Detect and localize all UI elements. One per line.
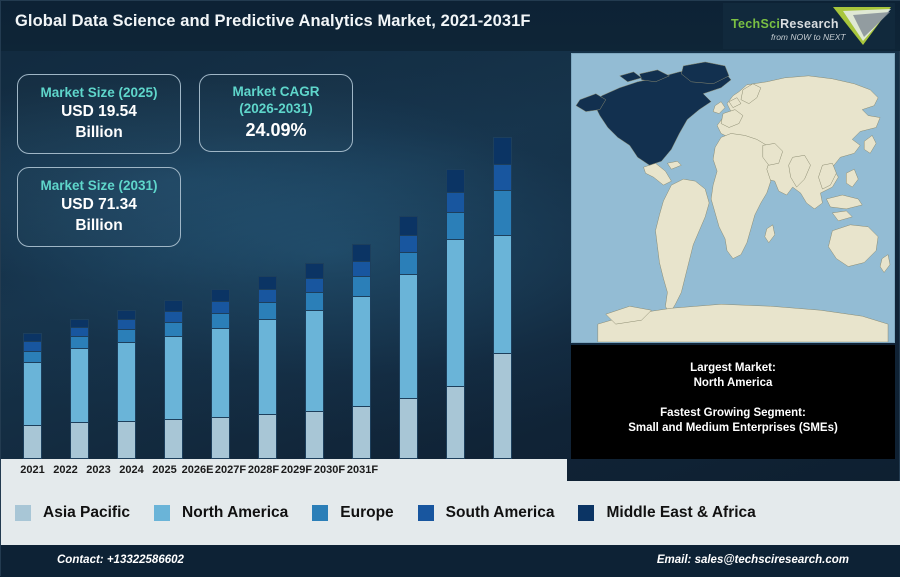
- stacked-bar-2030F[interactable]: [446, 169, 465, 459]
- bar-segment[interactable]: [258, 414, 277, 459]
- bar-segment[interactable]: [23, 351, 42, 362]
- bar-segment[interactable]: [399, 235, 418, 252]
- bar-segment[interactable]: [352, 296, 371, 406]
- legend-label: Middle East & Africa: [606, 504, 755, 522]
- bar-segment[interactable]: [117, 310, 136, 319]
- bar-segment[interactable]: [211, 328, 230, 417]
- legend-item-asia-pacific[interactable]: Asia Pacific: [15, 504, 130, 522]
- bar-slot: [164, 51, 211, 459]
- bar-segment[interactable]: [446, 169, 465, 192]
- legend-swatch-icon: [15, 505, 31, 521]
- fastest-segment-label: Fastest Growing Segment:: [571, 406, 895, 421]
- spacer: [571, 391, 895, 406]
- x-axis-label: 2031F: [339, 459, 386, 481]
- world-map-panel: [571, 53, 895, 343]
- stacked-bar-2026E[interactable]: [258, 276, 277, 459]
- bar-segment[interactable]: [70, 422, 89, 459]
- page-title: Global Data Science and Predictive Analy…: [15, 12, 531, 31]
- bar-segment[interactable]: [258, 276, 277, 289]
- bar-segment[interactable]: [211, 417, 230, 459]
- bar-slot: [70, 51, 117, 459]
- bar-slot: [23, 51, 70, 459]
- legend-label: Europe: [340, 504, 393, 522]
- world-map-icon: [572, 54, 894, 342]
- logo-tagline: from NOW to NEXT: [771, 32, 846, 42]
- bar-segment[interactable]: [305, 292, 324, 310]
- legend-swatch-icon: [312, 505, 328, 521]
- bar-segment[interactable]: [493, 235, 512, 353]
- bar-segment[interactable]: [258, 302, 277, 319]
- bar-segment[interactable]: [399, 398, 418, 459]
- largest-market-value: North America: [571, 376, 895, 391]
- legend-item-south-america[interactable]: South America: [418, 504, 555, 522]
- bar-segment[interactable]: [399, 216, 418, 235]
- bar-segment[interactable]: [352, 406, 371, 459]
- key-insights-box: Largest Market: North America Fastest Gr…: [571, 345, 895, 459]
- legend-item-middle-east-africa[interactable]: Middle East & Africa: [578, 504, 755, 522]
- bar-segment[interactable]: [164, 311, 183, 322]
- bar-segment[interactable]: [258, 319, 277, 414]
- header-bar: Global Data Science and Predictive Analy…: [1, 1, 900, 51]
- legend-swatch-icon: [154, 505, 170, 521]
- bar-segment[interactable]: [70, 336, 89, 348]
- largest-market-label: Largest Market:: [571, 361, 895, 376]
- bar-segment[interactable]: [399, 252, 418, 274]
- stacked-bar-chart: [1, 51, 567, 459]
- infographic-canvas: Global Data Science and Predictive Analy…: [0, 0, 900, 576]
- stacked-bar-2027F[interactable]: [305, 263, 324, 459]
- stacked-bar-2031F[interactable]: [493, 137, 512, 459]
- bar-segment[interactable]: [446, 212, 465, 239]
- bar-segment[interactable]: [23, 362, 42, 425]
- legend-label: Asia Pacific: [43, 504, 130, 522]
- bar-segment[interactable]: [23, 333, 42, 341]
- logo-wordmark: TechSciResearch: [731, 17, 839, 31]
- bar-segment[interactable]: [70, 327, 89, 336]
- bar-segment[interactable]: [352, 261, 371, 276]
- logo-name-part1: TechSci: [731, 17, 780, 31]
- bar-segment[interactable]: [446, 192, 465, 212]
- bar-slot: [493, 51, 540, 459]
- legend-label: North America: [182, 504, 288, 522]
- bar-segment[interactable]: [117, 329, 136, 342]
- bar-segment[interactable]: [446, 386, 465, 459]
- techsci-research-logo: TechSciResearch from NOW to NEXT: [723, 3, 895, 49]
- bar-segment[interactable]: [164, 419, 183, 459]
- legend-swatch-icon: [418, 505, 434, 521]
- stacked-bar-2028F[interactable]: [352, 244, 371, 459]
- bar-segment[interactable]: [70, 348, 89, 422]
- bar-segment[interactable]: [211, 313, 230, 328]
- bar-segment[interactable]: [211, 301, 230, 313]
- chart-bars-container: [1, 51, 567, 459]
- stacked-bar-2023[interactable]: [117, 310, 136, 459]
- bar-slot: [446, 51, 493, 459]
- bar-slot: [399, 51, 446, 459]
- bar-segment[interactable]: [70, 319, 89, 327]
- chart-legend: Asia PacificNorth AmericaEuropeSouth Ame…: [1, 481, 900, 545]
- bar-segment[interactable]: [305, 310, 324, 411]
- footer-bar: Contact: +13322586602 Email: sales@techs…: [1, 545, 900, 577]
- footer-email: Email: sales@techsciresearch.com: [657, 554, 849, 566]
- bar-slot: [305, 51, 352, 459]
- bar-segment[interactable]: [117, 319, 136, 329]
- logo-name-part2: Research: [780, 17, 839, 31]
- bar-slot: [258, 51, 305, 459]
- bar-segment[interactable]: [117, 342, 136, 421]
- bar-slot: [352, 51, 399, 459]
- bar-segment[interactable]: [23, 341, 42, 351]
- bar-segment[interactable]: [493, 137, 512, 164]
- bar-segment[interactable]: [352, 244, 371, 261]
- stacked-bar-2022[interactable]: [70, 319, 89, 459]
- bar-segment[interactable]: [164, 322, 183, 336]
- legend-label: South America: [446, 504, 555, 522]
- bar-segment[interactable]: [305, 263, 324, 278]
- bar-segment[interactable]: [211, 289, 230, 301]
- bar-segment[interactable]: [164, 336, 183, 419]
- bar-segment[interactable]: [352, 276, 371, 296]
- bar-segment[interactable]: [305, 411, 324, 459]
- footer-contact: Contact: +13322586602: [57, 554, 184, 566]
- legend-item-europe[interactable]: Europe: [312, 504, 393, 522]
- bar-slot: [117, 51, 164, 459]
- bar-segment[interactable]: [117, 421, 136, 459]
- stacked-bar-2029F[interactable]: [399, 216, 418, 459]
- bar-segment[interactable]: [164, 300, 183, 311]
- bar-segment[interactable]: [305, 278, 324, 292]
- x-axis-labels: 202120222023202420252026E2027F2028F2029F…: [1, 459, 567, 481]
- stacked-bar-2024[interactable]: [164, 300, 183, 459]
- legend-item-north-america[interactable]: North America: [154, 504, 288, 522]
- bar-segment[interactable]: [493, 164, 512, 190]
- fastest-segment-value: Small and Medium Enterprises (SMEs): [571, 421, 895, 436]
- bar-segment[interactable]: [23, 425, 42, 459]
- bar-segment[interactable]: [493, 353, 512, 459]
- stacked-bar-2025[interactable]: [211, 289, 230, 459]
- bar-slot: [211, 51, 258, 459]
- bar-segment[interactable]: [399, 274, 418, 398]
- bar-segment[interactable]: [446, 239, 465, 386]
- bar-segment[interactable]: [258, 289, 277, 302]
- legend-swatch-icon: [578, 505, 594, 521]
- stacked-bar-2021[interactable]: [23, 333, 42, 459]
- bar-segment[interactable]: [493, 190, 512, 235]
